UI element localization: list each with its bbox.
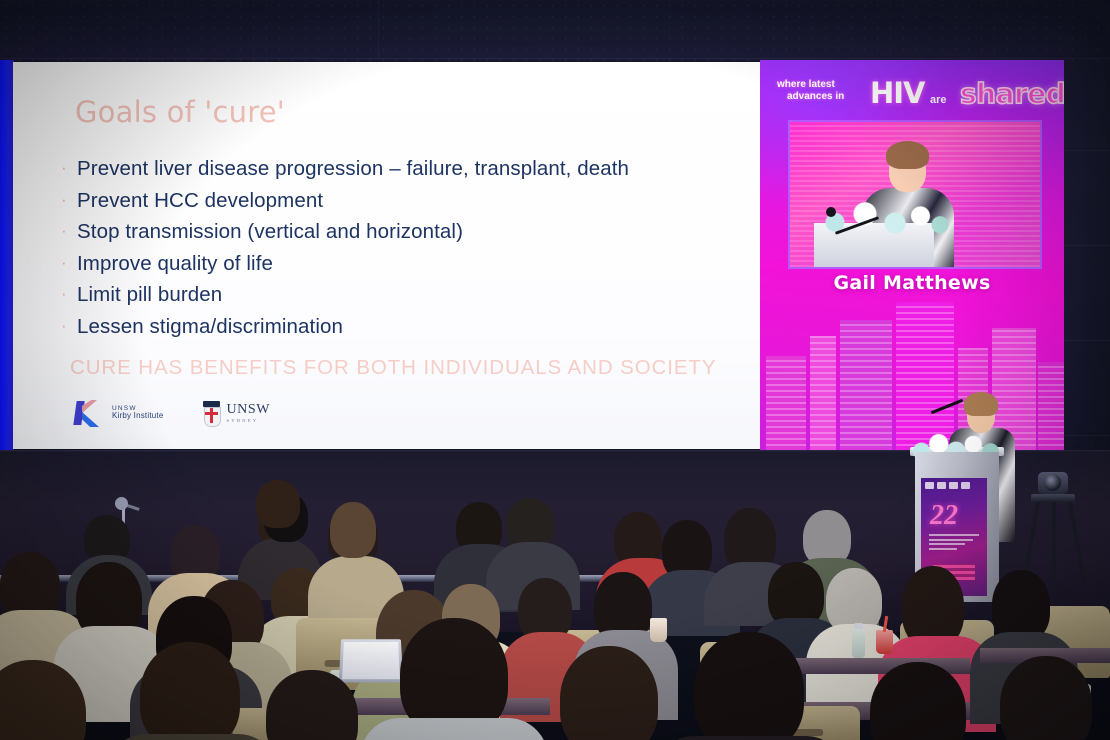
coffee-cup bbox=[650, 618, 667, 642]
soft-drink-cup bbox=[876, 630, 893, 654]
bullet-dot-icon: · bbox=[61, 222, 77, 239]
bullet-text: Prevent liver disease progression – fail… bbox=[77, 155, 629, 182]
tagline-connector: are bbox=[930, 94, 947, 106]
list-item: · Prevent HCC development bbox=[61, 187, 741, 214]
panel-tagline: where latest advances in HIV are shared bbox=[770, 78, 1058, 116]
unsw-crest-icon bbox=[203, 401, 220, 425]
slide-logo-row: UNSW Kirby Institute UNSW SYDNEY bbox=[73, 399, 270, 427]
wall-seam bbox=[1064, 435, 1110, 436]
wall-seam bbox=[378, 0, 379, 60]
conference-photo: Goals of 'cure' · Prevent liver disease … bbox=[0, 0, 1110, 740]
list-item: · Stop transmission (vertical and horizo… bbox=[61, 218, 741, 245]
projection-screen: Goals of 'cure' · Prevent liver disease … bbox=[0, 60, 1064, 452]
list-item: · Improve quality of life bbox=[61, 250, 741, 277]
screen-edge-accent bbox=[0, 60, 14, 452]
bullet-dot-icon: · bbox=[61, 254, 77, 271]
bullet-text: Limit pill burden bbox=[77, 281, 222, 308]
list-item: · Prevent liver disease progression – fa… bbox=[61, 155, 741, 182]
tagline-hiv-word: HIV bbox=[870, 76, 925, 110]
event-branding-panel: where latest advances in HIV are shared … bbox=[760, 60, 1064, 452]
speaker-name-label: Gail Matthews bbox=[760, 272, 1064, 294]
bullet-dot-icon: · bbox=[61, 285, 77, 302]
bullet-text: Prevent HCC development bbox=[77, 187, 323, 214]
presentation-slide: Goals of 'cure' · Prevent liver disease … bbox=[13, 62, 760, 449]
slide-caption: CURE HAS BENEFITS FOR BOTH INDIVIDUALS A… bbox=[70, 356, 716, 380]
bottle-cap bbox=[854, 623, 863, 629]
wall-seam bbox=[1064, 150, 1110, 151]
kirby-institute-logo: UNSW Kirby Institute bbox=[73, 399, 163, 427]
wall-seam bbox=[1064, 245, 1110, 246]
wall-seam bbox=[1064, 340, 1110, 341]
unsw-logo-line2: SYDNEY bbox=[226, 419, 270, 424]
feed-flowers bbox=[808, 197, 958, 239]
feed-microphone-head-icon bbox=[826, 207, 836, 217]
live-video-feed bbox=[788, 120, 1042, 269]
kirby-k-icon bbox=[73, 399, 105, 427]
bullet-dot-icon: · bbox=[61, 159, 77, 176]
tagline-line2: advances in bbox=[787, 91, 844, 103]
unsw-sydney-logo: UNSW SYDNEY bbox=[203, 401, 270, 425]
audience-area bbox=[0, 470, 1110, 740]
list-item: · Lessen stigma/discrimination bbox=[61, 313, 741, 340]
tagline-line1: where latest bbox=[777, 79, 835, 91]
slide-bullet-list: · Prevent liver disease progression – fa… bbox=[61, 155, 741, 344]
water-bottle bbox=[852, 628, 865, 658]
tagline-shared-word: shared bbox=[960, 77, 1064, 110]
bullet-text: Lessen stigma/discrimination bbox=[77, 313, 343, 340]
bullet-text: Improve quality of life bbox=[77, 250, 273, 277]
wall-seam bbox=[0, 58, 1110, 59]
bullet-dot-icon: · bbox=[61, 317, 77, 334]
slide-title: Goals of 'cure' bbox=[75, 95, 285, 129]
unsw-logo-line1: UNSW bbox=[226, 403, 270, 417]
laptop bbox=[339, 639, 403, 682]
kirby-logo-line2: Kirby Institute bbox=[112, 412, 163, 421]
bullet-text: Stop transmission (vertical and horizont… bbox=[77, 218, 463, 245]
list-item: · Limit pill burden bbox=[61, 281, 741, 308]
bullet-dot-icon: · bbox=[61, 191, 77, 208]
